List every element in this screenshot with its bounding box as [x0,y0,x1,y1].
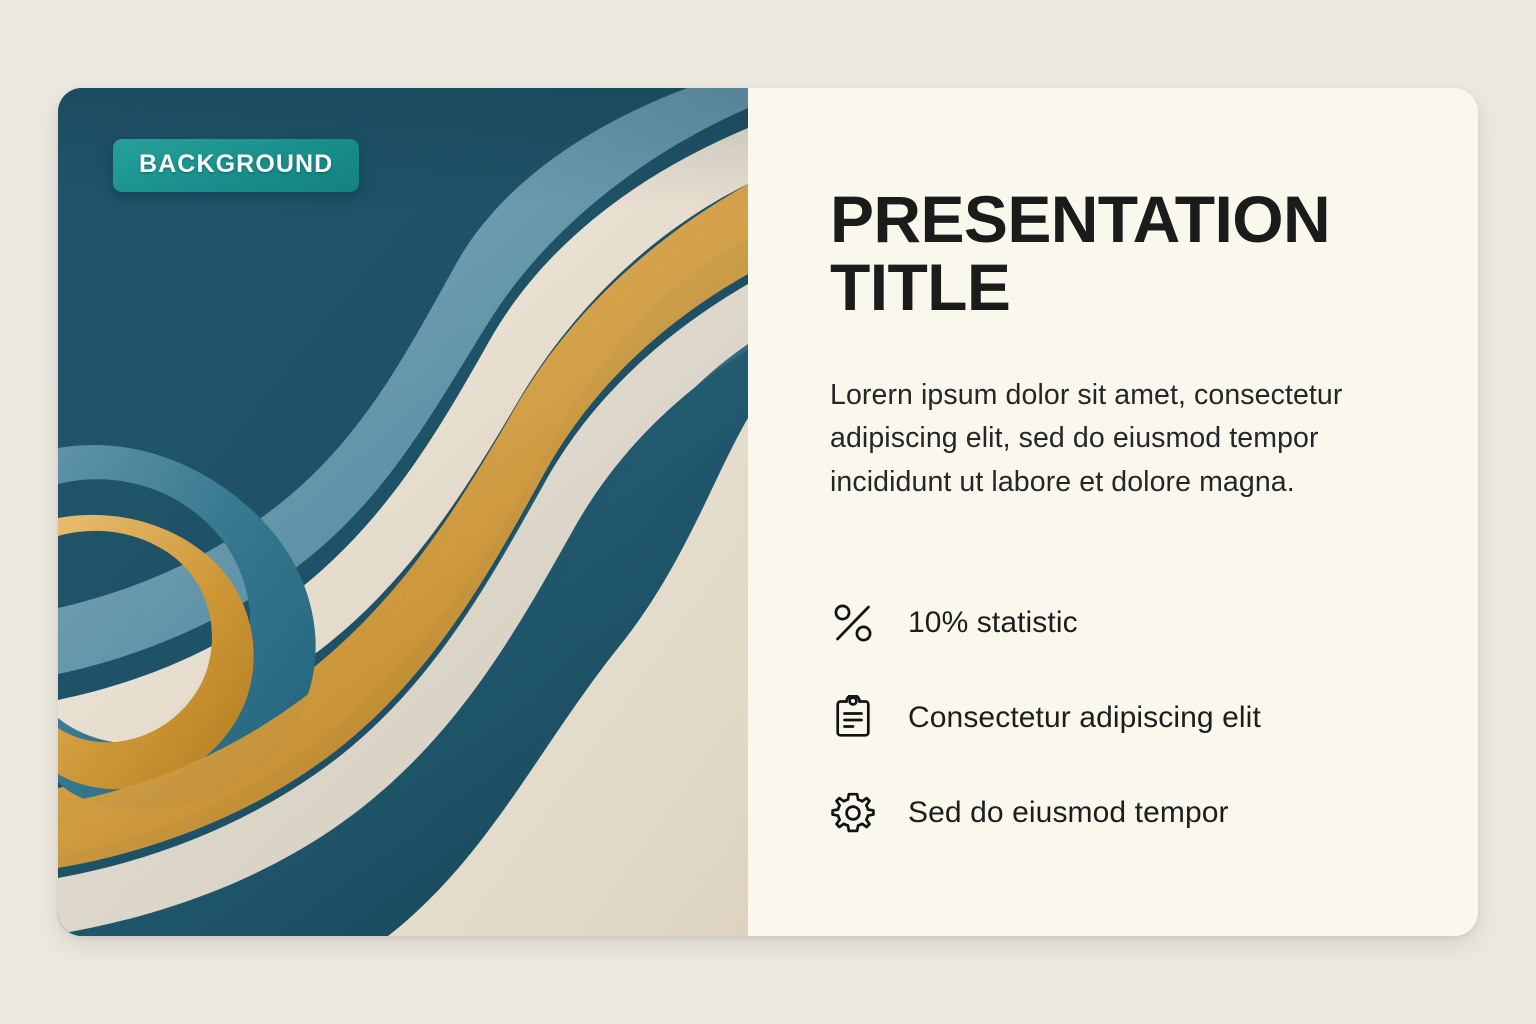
list-item[interactable]: 10% statistic [830,576,1412,671]
list-item-label: Sed do eiusmod tempor [908,796,1229,830]
background-badge[interactable]: BACKGROUND [113,139,359,192]
abstract-wave-artwork [58,88,748,936]
list-item-label: Consectetur adipiscing elit [908,701,1261,735]
percent-icon [830,600,908,646]
background-badge-label: BACKGROUND [139,152,333,177]
clipboard-icon [830,695,908,741]
slide-visual-panel: BACKGROUND [58,88,748,936]
list-item[interactable]: Sed do eiusmod tempor [830,766,1412,861]
slide-content-panel: Presentation Title Lorern ipsum dolor si… [748,88,1478,936]
page-title: Presentation Title [830,186,1412,322]
presentation-slide-card: BACKGROUND Presentation Title Lorern ips… [58,88,1478,936]
list-item-label: 10% statistic [908,606,1078,640]
bullet-list: 10% statistic Consectetur adipiscing eli… [830,576,1412,861]
gear-icon [830,790,908,836]
list-item[interactable]: Consectetur adipiscing elit [830,671,1412,766]
body-paragraph: Lorern ipsum dolor sit amet, consectetur… [830,374,1410,504]
